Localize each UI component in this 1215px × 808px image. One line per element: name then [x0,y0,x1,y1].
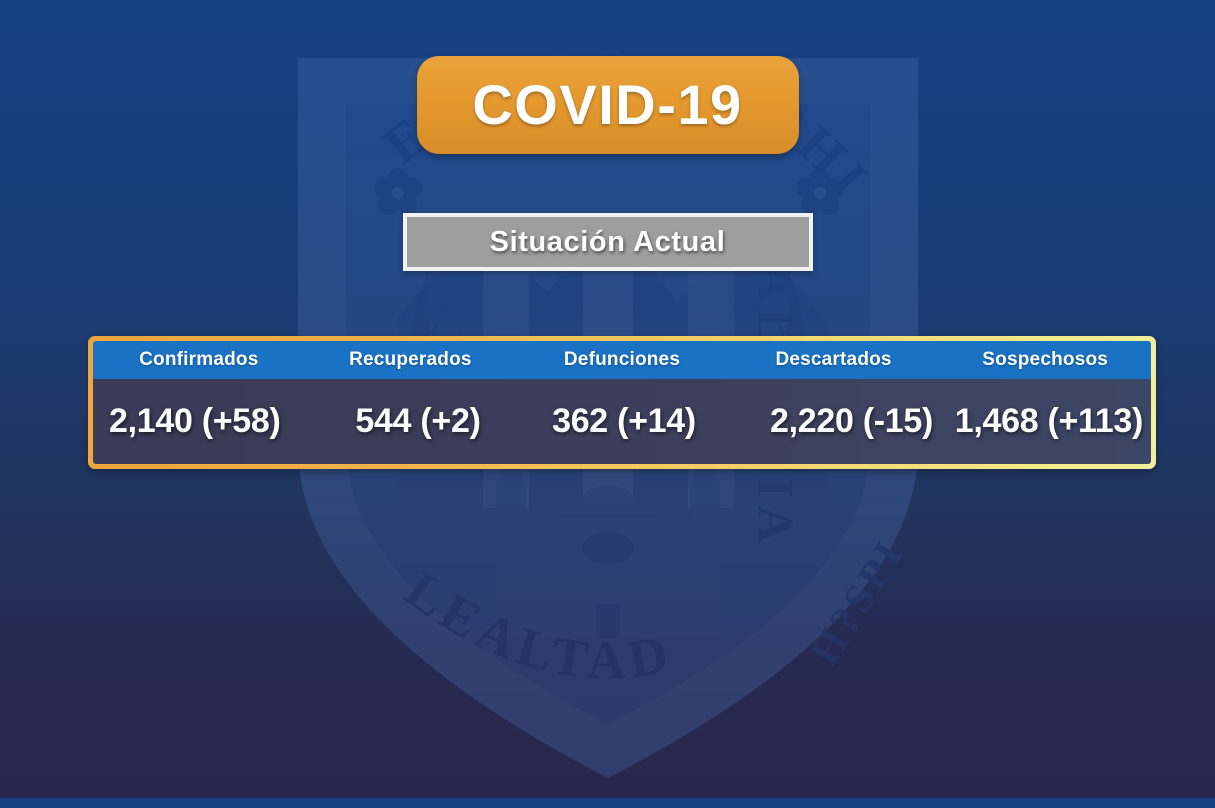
flower-ornament [374,168,844,215]
subtitle-bar: Situación Actual [403,213,813,271]
svg-text:LEALTAD: LEALTAD [394,559,677,690]
table-header-row: Confirmados Recuperados Defunciones Desc… [93,341,1151,379]
stats-table-inner: Confirmados Recuperados Defunciones Desc… [93,341,1151,464]
value-sospechosos: 1,468 (+113) [937,379,1151,464]
column-header-confirmados: Confirmados [93,341,305,379]
subtitle-text: Situación Actual [490,226,726,259]
column-header-recuperados: Recuperados [305,341,517,379]
value-recuperados: 544 (+2) [315,379,521,464]
column-header-sospechosos: Sospechosos [939,341,1151,379]
table-value-row: 2,140 (+58) 544 (+2) 362 (+14) 2,220 (-1… [93,379,1151,464]
svg-text:H?SPI: H?SPI [801,531,914,673]
column-header-descartados: Descartados [728,341,940,379]
value-defunciones: 362 (+14) [521,379,727,464]
value-confirmados: 2,140 (+58) [93,379,315,464]
stats-table: Confirmados Recuperados Defunciones Desc… [88,336,1156,469]
value-descartados: 2,220 (-15) [727,379,937,464]
column-header-defunciones: Defunciones [516,341,728,379]
page-title: COVID-19 [472,77,742,133]
covid-title-badge: COVID-19 [417,56,799,154]
